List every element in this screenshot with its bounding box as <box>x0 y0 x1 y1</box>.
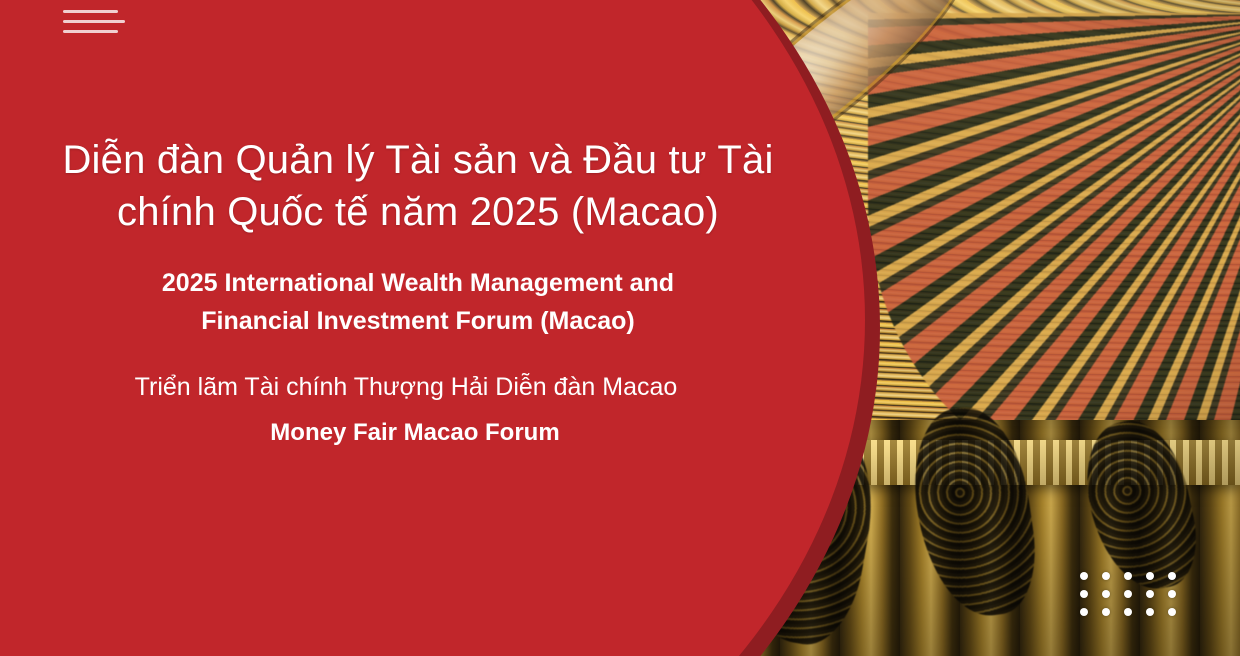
dot <box>1168 608 1176 616</box>
dot <box>1146 590 1154 598</box>
dot <box>1102 572 1110 580</box>
hamburger-line-2 <box>63 20 125 23</box>
hamburger-line-1 <box>63 10 118 13</box>
dot <box>1124 590 1132 598</box>
hero-content: Diễn đàn Quản lý Tài sản và Đầu tư Tài c… <box>0 0 1240 656</box>
slide-hero: Diễn đàn Quản lý Tài sản và Đầu tư Tài c… <box>0 0 1240 656</box>
dot <box>1080 608 1088 616</box>
dot <box>1168 590 1176 598</box>
dot <box>1080 572 1088 580</box>
decorative-dot-grid <box>1080 572 1190 626</box>
dot <box>1124 608 1132 616</box>
title-block: Diễn đàn Quản lý Tài sản và Đầu tư Tài c… <box>0 134 836 340</box>
dot <box>1168 572 1176 580</box>
dot <box>1146 572 1154 580</box>
subtitle-block: Triển lãm Tài chính Thượng Hải Diễn đàn … <box>0 372 812 447</box>
subtitle-english: Money Fair Macao Forum <box>0 419 812 448</box>
page-title-vietnamese: Diễn đàn Quản lý Tài sản và Đầu tư Tài c… <box>0 134 836 238</box>
subtitle-vietnamese: Triển lãm Tài chính Thượng Hải Diễn đàn … <box>135 372 678 403</box>
dot <box>1124 572 1132 580</box>
page-title-english: 2025 International Wealth Management and… <box>0 264 836 340</box>
hamburger-line-3 <box>63 30 118 33</box>
dot <box>1102 608 1110 616</box>
dot <box>1146 608 1154 616</box>
dot <box>1080 590 1088 598</box>
hamburger-menu-icon[interactable] <box>63 10 131 40</box>
dot <box>1102 590 1110 598</box>
